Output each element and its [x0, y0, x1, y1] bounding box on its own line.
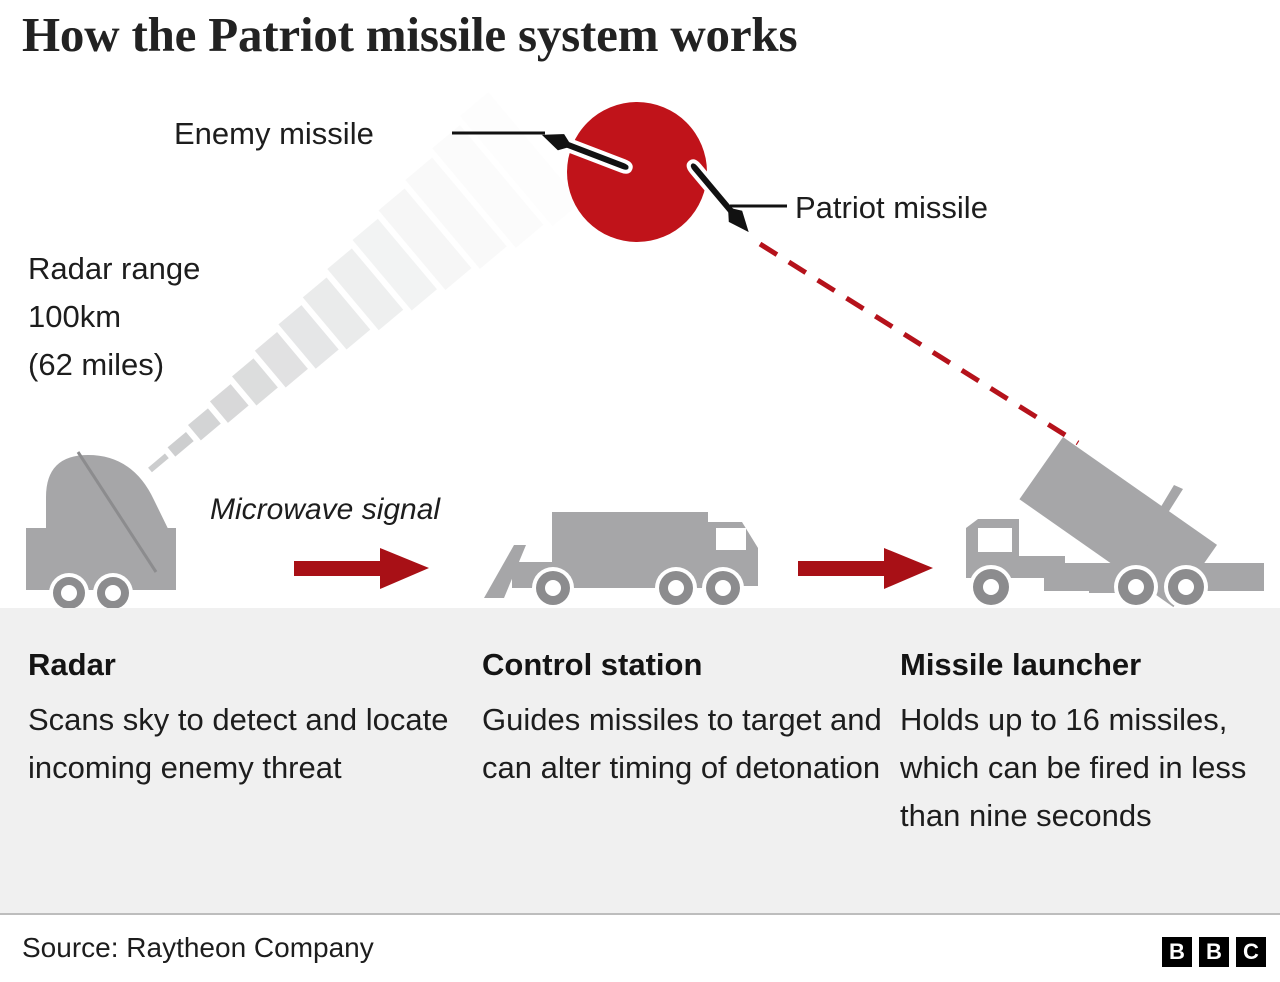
- missile-launcher-icon: [966, 437, 1264, 609]
- section-missile-launcher: Missile launcher Holds up to 16 missiles…: [900, 646, 1270, 840]
- section-missile-launcher-heading: Missile launcher: [900, 646, 1270, 684]
- source-label: Source: Raytheon Company: [22, 931, 374, 965]
- section-radar-body: Scans sky to detect and locate incoming …: [28, 696, 458, 792]
- patriot-missile-infographic: How the Patriot missile system works: [0, 0, 1280, 982]
- bbc-logo-letter-3: C: [1236, 937, 1266, 967]
- radar-range-label: Radar range 100km (62 miles): [28, 245, 200, 389]
- patriot-trajectory-line: [760, 244, 1078, 443]
- section-control-station-heading: Control station: [482, 646, 882, 684]
- radar-vehicle-icon: [26, 452, 176, 612]
- callout-patriot-missile: Patriot missile: [795, 190, 988, 226]
- microwave-signal-label: Microwave signal: [210, 493, 440, 527]
- bbc-logo: B B C: [1162, 937, 1266, 967]
- callout-enemy-missile: Enemy missile: [174, 116, 374, 152]
- bbc-logo-letter-1: B: [1162, 937, 1192, 967]
- section-control-station: Control station Guides missiles to targe…: [482, 646, 882, 792]
- section-radar-heading: Radar: [28, 646, 458, 684]
- section-missile-launcher-body: Holds up to 16 missiles, which can be fi…: [900, 696, 1270, 840]
- section-control-station-body: Guides missiles to target and can alter …: [482, 696, 882, 792]
- description-band: Radar Scans sky to detect and locate inc…: [0, 608, 1280, 913]
- control-station-icon: [484, 512, 758, 609]
- bbc-logo-letter-2: B: [1199, 937, 1229, 967]
- section-radar: Radar Scans sky to detect and locate inc…: [28, 646, 458, 792]
- flow-arrow-1-icon: [294, 548, 429, 589]
- footer-divider: [0, 913, 1280, 915]
- flow-arrow-2-icon: [798, 548, 933, 589]
- explosion-icon: [567, 102, 707, 242]
